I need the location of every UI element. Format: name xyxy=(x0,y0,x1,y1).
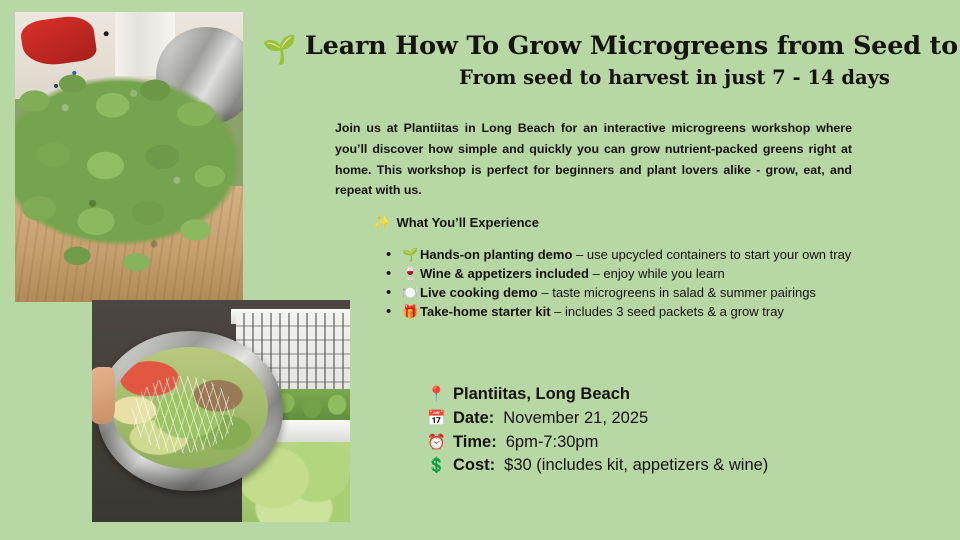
page-title: Learn How To Grow Microgreens from Seed … xyxy=(305,32,960,61)
detail-date-value: November 21, 2025 xyxy=(503,407,648,431)
dollar-icon: 💲 xyxy=(427,455,444,477)
alarm-clock-icon: ⏰ xyxy=(427,432,444,454)
event-details: 📍 Plantiitas, Long Beach 📅 Date: Novembe… xyxy=(427,383,768,478)
list-item-title: Hands-on planting demo xyxy=(420,247,572,262)
page-subtitle: From seed to harvest in just 7 - 14 days xyxy=(305,66,960,89)
list-item: 🎁 Take-home starter kit – includes 3 see… xyxy=(380,303,855,321)
detail-location: 📍 Plantiitas, Long Beach xyxy=(427,383,768,407)
steel-salad-bowl xyxy=(97,331,283,491)
detail-time: ⏰ Time: 6pm-7:30pm xyxy=(427,431,768,455)
plate-icon: 🍽️ xyxy=(402,284,418,302)
detail-cost: 💲 Cost: $30 (includes kit, appetizers & … xyxy=(427,454,768,478)
sprout-garnish xyxy=(131,376,235,453)
microgreens-salad-photo xyxy=(92,300,350,522)
title-block: Learn How To Grow Microgreens from Seed … xyxy=(305,32,960,89)
microgreens-tray-photo xyxy=(15,12,243,302)
title-row: 🌱 Learn How To Grow Microgreens from See… xyxy=(262,32,942,89)
seedling-icon: 🌱 xyxy=(262,36,297,64)
list-item: 🍽️ Live cooking demo – taste microgreens… xyxy=(380,284,855,302)
detail-time-label: Time: xyxy=(453,431,497,455)
flyer-canvas: 🌱 Learn How To Grow Microgreens from See… xyxy=(0,0,960,540)
list-item-text: – taste microgreens in salad & summer pa… xyxy=(538,285,816,300)
intro-paragraph: Join us at Plantiitas in Long Beach for … xyxy=(335,118,852,201)
experience-list: 🌱 Hands-on planting demo – use upcycled … xyxy=(380,246,855,322)
detail-date: 📅 Date: November 21, 2025 xyxy=(427,407,768,431)
list-item: 🍷 Wine & appetizers included – enjoy whi… xyxy=(380,265,855,283)
detail-cost-label: Cost: xyxy=(453,454,495,478)
list-item-title: Wine & appetizers included xyxy=(420,266,589,281)
experience-heading: ✨ What You’ll Experience xyxy=(373,214,539,231)
hand xyxy=(92,367,115,425)
detail-location-label: Plantiitas, Long Beach xyxy=(453,383,630,407)
detail-time-value: 6pm-7:30pm xyxy=(506,431,599,455)
wine-glass-icon: 🍷 xyxy=(402,265,418,283)
list-item-text: – enjoy while you learn xyxy=(589,266,725,281)
detail-date-label: Date: xyxy=(453,407,494,431)
photo-background xyxy=(15,12,243,302)
location-pin-icon: 📍 xyxy=(427,384,444,406)
calendar-icon: 📅 xyxy=(427,408,444,430)
list-item-title: Take-home starter kit xyxy=(420,304,551,319)
list-item-text: – includes 3 seed packets & a grow tray xyxy=(551,304,784,319)
experience-heading-label: What You’ll Experience xyxy=(396,215,539,230)
list-item-title: Live cooking demo xyxy=(420,285,538,300)
gift-icon: 🎁 xyxy=(402,303,418,321)
seedling-icon: 🌱 xyxy=(402,246,418,264)
list-item: 🌱 Hands-on planting demo – use upcycled … xyxy=(380,246,855,264)
microgreens-highlights xyxy=(15,12,243,302)
sparkles-icon: ✨ xyxy=(373,214,390,231)
detail-cost-value: $30 (includes kit, appetizers & wine) xyxy=(504,454,768,478)
list-item-text: – use upcycled containers to start your … xyxy=(572,247,851,262)
photo-background xyxy=(92,300,350,522)
